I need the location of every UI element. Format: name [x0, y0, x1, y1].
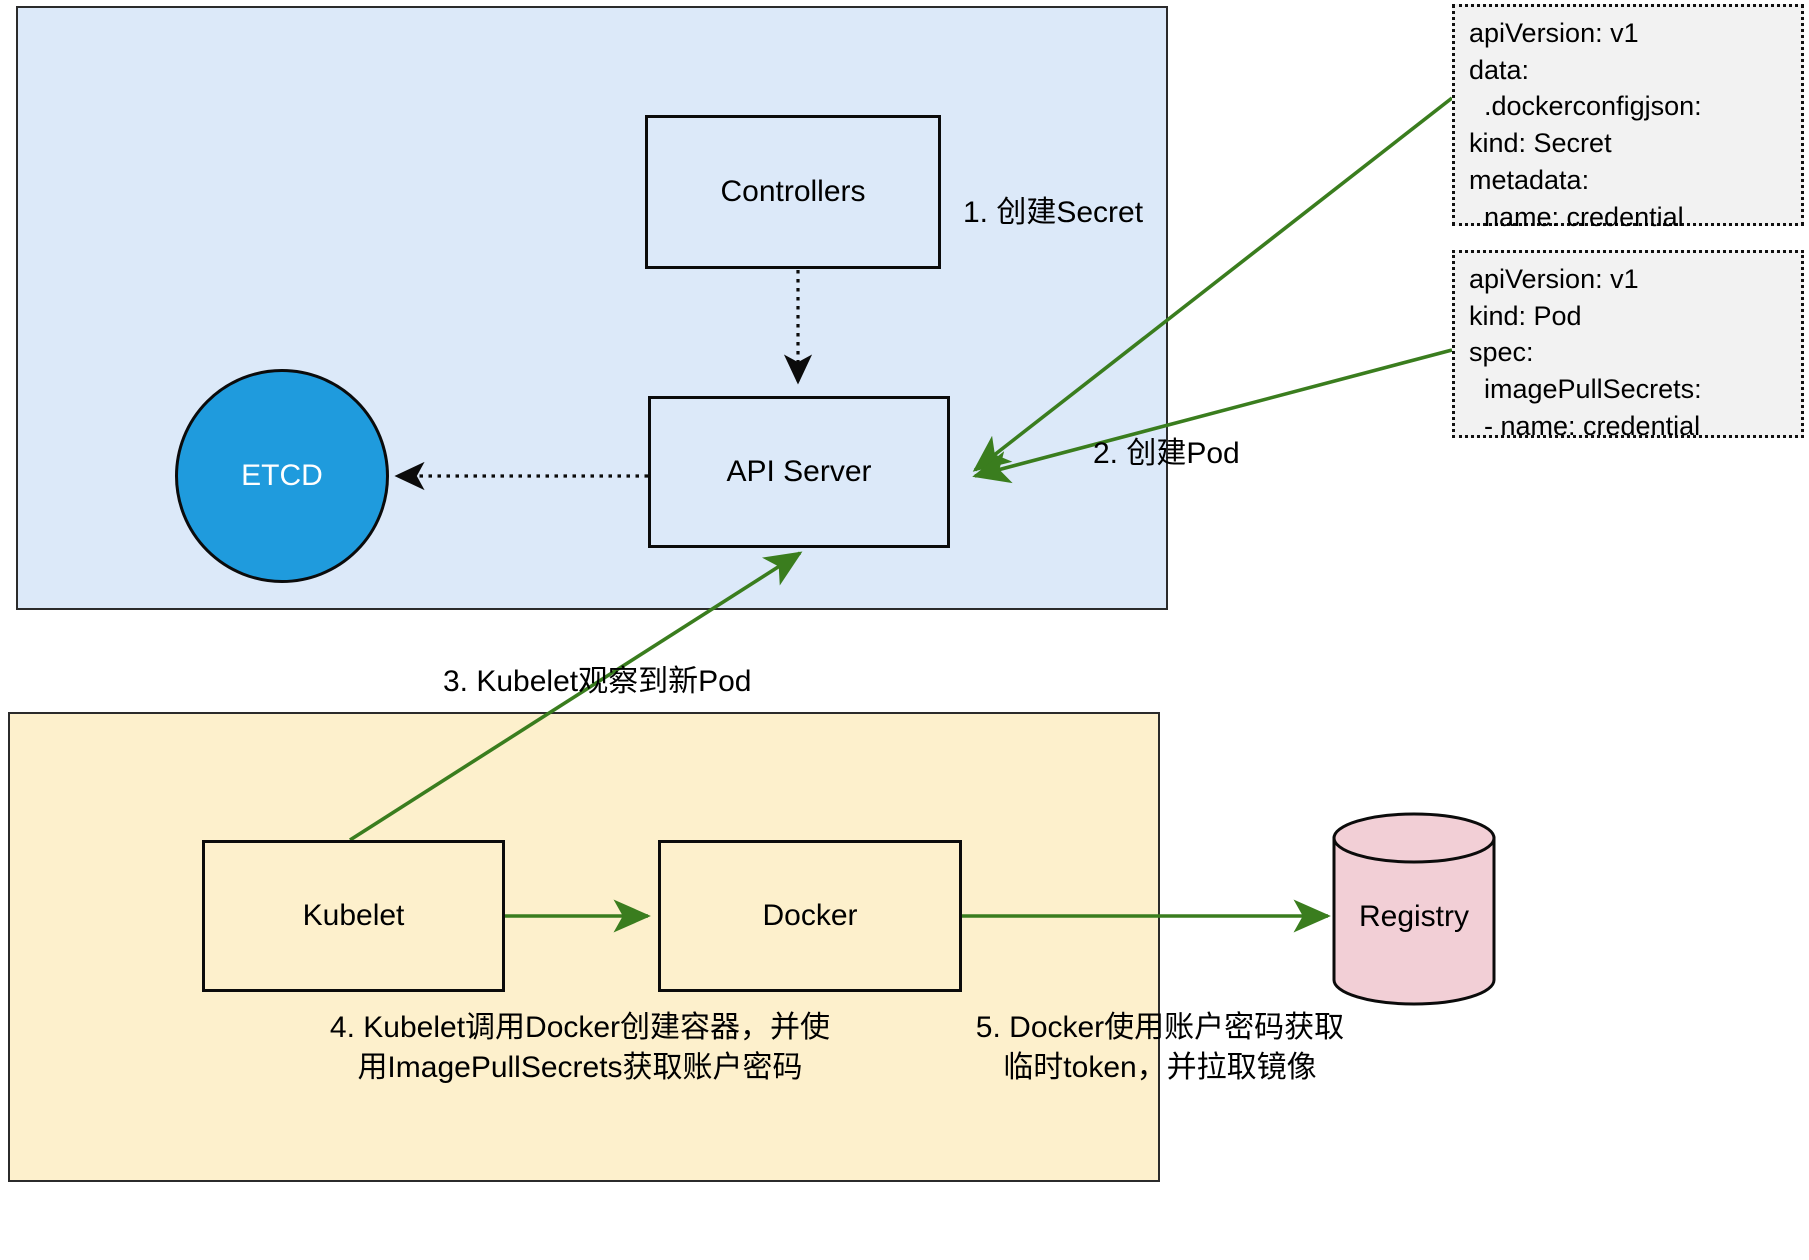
step-3-label: 3. Kubelet观察到新Pod — [443, 662, 751, 702]
registry-cylinder[interactable]: Registry — [1332, 812, 1496, 1006]
kubelet-label: Kubelet — [303, 899, 405, 933]
step-2-label: 2. 创建Pod — [1093, 434, 1240, 474]
controllers-label: Controllers — [720, 175, 865, 209]
step-1-label: 1. 创建Secret — [963, 193, 1143, 233]
diagram-canvas: Controllers API Server ETCD Kubelet Dock… — [0, 0, 1809, 1260]
api-server-label: API Server — [726, 455, 871, 489]
step-4-label: 4. Kubelet调用Docker创建容器，并使 用ImagePullSecr… — [280, 1008, 880, 1087]
step-5-label: 5. Docker使用账户密码获取 临时token，并拉取镜像 — [930, 1008, 1390, 1087]
docker-box[interactable]: Docker — [658, 840, 962, 992]
docker-label: Docker — [762, 899, 857, 933]
kubelet-box[interactable]: Kubelet — [202, 840, 505, 992]
controllers-box[interactable]: Controllers — [645, 115, 941, 269]
pod-yaml-box: apiVersion: v1 kind: Pod spec: imagePull… — [1452, 250, 1804, 438]
secret-yaml-box: apiVersion: v1 data: .dockerconfigjson: … — [1452, 4, 1804, 226]
api-server-box[interactable]: API Server — [648, 396, 950, 548]
registry-label: Registry — [1332, 900, 1496, 934]
etcd-label: ETCD — [241, 459, 323, 493]
etcd-node[interactable]: ETCD — [175, 369, 389, 583]
